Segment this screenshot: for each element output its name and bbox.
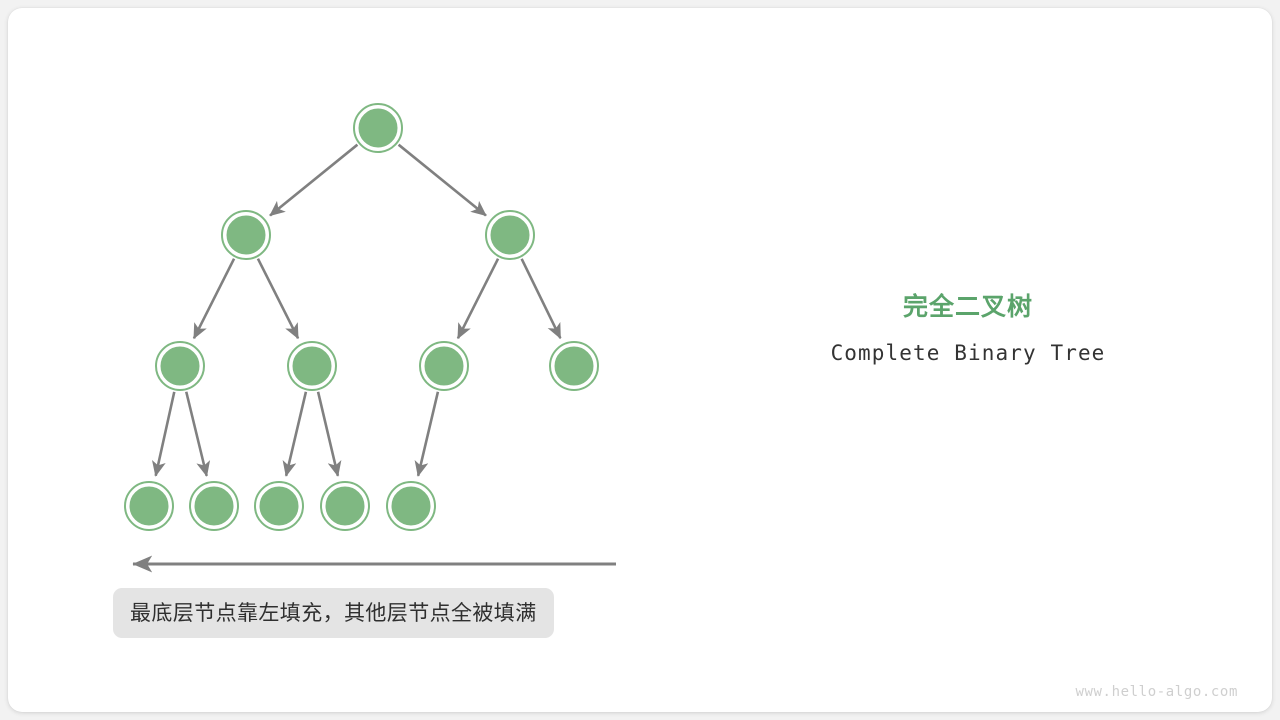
- tree-node-core: [259, 486, 300, 527]
- tree-node[interactable]: [420, 342, 468, 390]
- tree-node-core: [325, 486, 366, 527]
- tree-edge: [186, 392, 206, 476]
- tree-edge: [258, 259, 298, 339]
- tree-node-core: [490, 215, 531, 256]
- legend-title: 完全二叉树: [790, 292, 1146, 322]
- tree-node[interactable]: [222, 211, 270, 259]
- tree-node[interactable]: [156, 342, 204, 390]
- tree-edge: [318, 392, 338, 476]
- tree-edge: [194, 259, 234, 339]
- tree-node[interactable]: [190, 482, 238, 530]
- legend-subtitle: Complete Binary Tree: [790, 340, 1146, 366]
- tree-edge: [418, 392, 438, 476]
- tree-node[interactable]: [321, 482, 369, 530]
- tree-edge: [458, 259, 498, 339]
- tree-node[interactable]: [387, 482, 435, 530]
- tree-edges: [156, 145, 561, 476]
- tree-node-core: [554, 346, 595, 387]
- tree-node-core: [129, 486, 170, 527]
- tree-edge: [399, 145, 486, 216]
- tree-node-core: [160, 346, 201, 387]
- tree-edge: [156, 392, 175, 476]
- tree-node-core: [226, 215, 267, 256]
- tree-node[interactable]: [125, 482, 173, 530]
- tree-node-core: [391, 486, 432, 527]
- legend-block: 完全二叉树 Complete Binary Tree: [790, 292, 1146, 366]
- site-watermark: www.hello-algo.com: [1075, 684, 1238, 700]
- tree-edge: [286, 392, 306, 476]
- tree-node[interactable]: [255, 482, 303, 530]
- tree-node[interactable]: [550, 342, 598, 390]
- caption-label: 最底层节点靠左填充，其他层节点全被填满: [113, 588, 554, 638]
- tree-node-core: [194, 486, 235, 527]
- tree-node-core: [292, 346, 333, 387]
- tree-edge: [522, 259, 561, 338]
- tree-edge: [270, 145, 357, 216]
- tree-node-core: [358, 108, 399, 149]
- tree-node[interactable]: [354, 104, 402, 152]
- tree-node[interactable]: [486, 211, 534, 259]
- tree-node-core: [424, 346, 465, 387]
- tree-node[interactable]: [288, 342, 336, 390]
- tree-nodes: [125, 104, 598, 530]
- diagram-stage: 完全二叉树 Complete Binary Tree 最底层节点靠左填充，其他层…: [0, 0, 1280, 720]
